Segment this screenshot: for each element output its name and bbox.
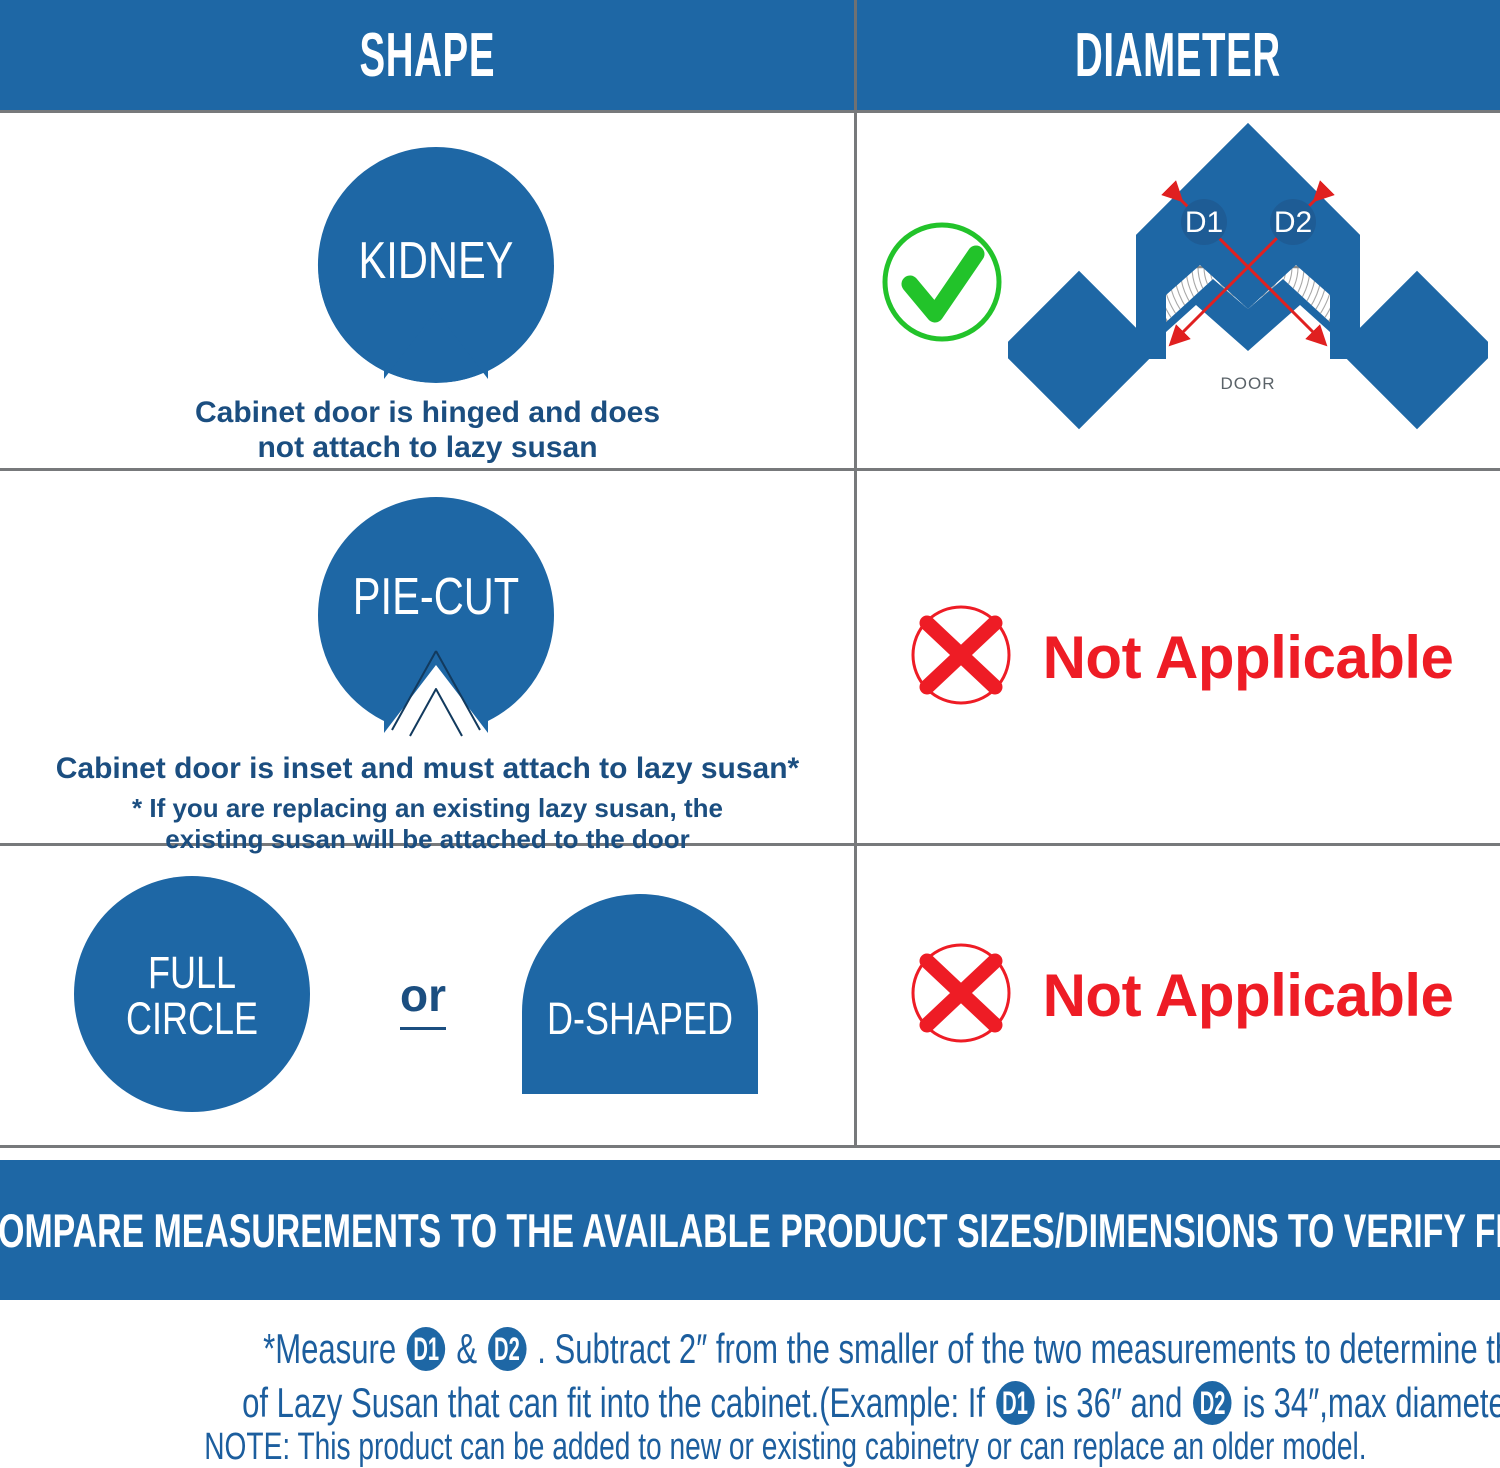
header-cell-diameter: DIAMETER [855, 0, 1500, 110]
piecut-shape-label: PIE-CUT [332, 571, 540, 623]
table-header: SHAPE DIAMETER [0, 0, 1500, 110]
header-label-shape: SHAPE [360, 20, 496, 91]
cell-diameter-kidney: D1 D2 DOOR [858, 113, 1500, 468]
full-circle-shape-graphic: FULL CIRCLE [72, 874, 312, 1119]
header-column-divider [854, 0, 857, 110]
kidney-shape-graphic: KIDNEY [306, 143, 566, 383]
piecut-caption-line-1: Cabinet door is inset and must attach to… [0, 751, 855, 786]
footnote-subtract-text: . Subtract 2″ from the smaller of the tw… [537, 1325, 1500, 1372]
piecut-shape-graphic: PIE-CUT [306, 493, 566, 733]
d1-pill: D1 [996, 1381, 1034, 1425]
door-label: DOOR [1221, 374, 1276, 393]
cell-diameter-piecut: Not Applicable [858, 471, 1500, 843]
corner-cabinet-diagram: D1 D2 DOOR [1008, 119, 1488, 454]
not-applicable-label: Not Applicable [1043, 623, 1454, 692]
d2-pill: D2 [1193, 1381, 1231, 1425]
d2-pill: D2 [488, 1327, 526, 1371]
not-applicable-block: Not Applicable [858, 846, 1500, 1145]
x-circle-icon [905, 599, 1017, 716]
footnote-example-mid: is 36″ and [1045, 1379, 1182, 1426]
full-circle-shape-label-line1: FULL [96, 950, 288, 995]
footnote-example-end: is 34″,max diameter is 32″). [1243, 1379, 1500, 1426]
kidney-shape-label: KIDNEY [332, 235, 540, 287]
footnote-ampersand: & [456, 1325, 477, 1372]
header-label-diameter: DIAMETER [1075, 20, 1281, 91]
full-circle-shape-label-line2: CIRCLE [96, 996, 288, 1041]
table-row: KIDNEY Cabinet door is hinged and does n… [0, 113, 1500, 468]
cell-diameter-fullcircle: Not Applicable [858, 846, 1500, 1145]
footnote-example-lead: of Lazy Susan that can fit into the cabi… [242, 1379, 985, 1426]
left-door-panel [1008, 271, 1158, 429]
d2-badge-label: D2 [1274, 206, 1312, 239]
piecut-caption-line-2: * If you are replacing an existing lazy … [0, 793, 855, 824]
compare-measurements-banner: COMPARE MEASUREMENTS TO THE AVAILABLE PR… [0, 1160, 1500, 1300]
d-shaped-shape-label: D-SHAPED [542, 996, 737, 1041]
not-applicable-label: Not Applicable [1043, 961, 1454, 1030]
header-cell-shape: SHAPE [0, 0, 855, 110]
d2-badge: D2 [1270, 199, 1316, 245]
d1-badge: D1 [1181, 199, 1227, 245]
conjunction-or: or [378, 968, 468, 1022]
cell-shape-fullcircle-dshaped: FULL CIRCLE or D-SHAPED [0, 846, 855, 1145]
kidney-caption-line-1: Cabinet door is hinged and does [0, 395, 855, 430]
table-row: PIE-CUT Cabinet door is inset and must a… [0, 471, 1500, 843]
check-icon [878, 218, 1006, 351]
not-applicable-block: Not Applicable [858, 471, 1500, 843]
kidney-caption: Cabinet door is hinged and does not atta… [0, 395, 855, 466]
right-door-panel [1338, 271, 1488, 429]
d-shaped-shape-graphic: D-SHAPED [518, 892, 762, 1101]
footnote-measure-text: *Measure [263, 1325, 396, 1372]
cell-shape-piecut: PIE-CUT Cabinet door is inset and must a… [0, 471, 855, 843]
footnote-note-text: NOTE: This product can be added to new o… [204, 1428, 1366, 1466]
conjunction-or-label: or [400, 969, 446, 1030]
kidney-caption-line-2: not attach to lazy susan [0, 430, 855, 465]
piecut-caption-main: Cabinet door is inset and must attach to… [0, 751, 855, 786]
footnote-line-2: of Lazy Susan that can fit into the cabi… [0, 1382, 1500, 1428]
table-row: FULL CIRCLE or D-SHAPED Not A [0, 846, 1500, 1145]
d1-pill: D1 [407, 1327, 445, 1371]
cell-shape-kidney: KIDNEY Cabinet door is hinged and does n… [0, 113, 855, 468]
footnote-note-line: NOTE: This product can be added to new o… [0, 1428, 1500, 1466]
footnote-line-1: *Measure D1 & D2 . Subtract 2″ from the … [0, 1328, 1500, 1374]
compare-measurements-banner-label: COMPARE MEASUREMENTS TO THE AVAILABLE PR… [0, 1203, 1500, 1258]
d1-badge-label: D1 [1185, 206, 1223, 239]
grid-line-row3-bottom [0, 1145, 1500, 1148]
x-circle-icon [905, 937, 1017, 1054]
